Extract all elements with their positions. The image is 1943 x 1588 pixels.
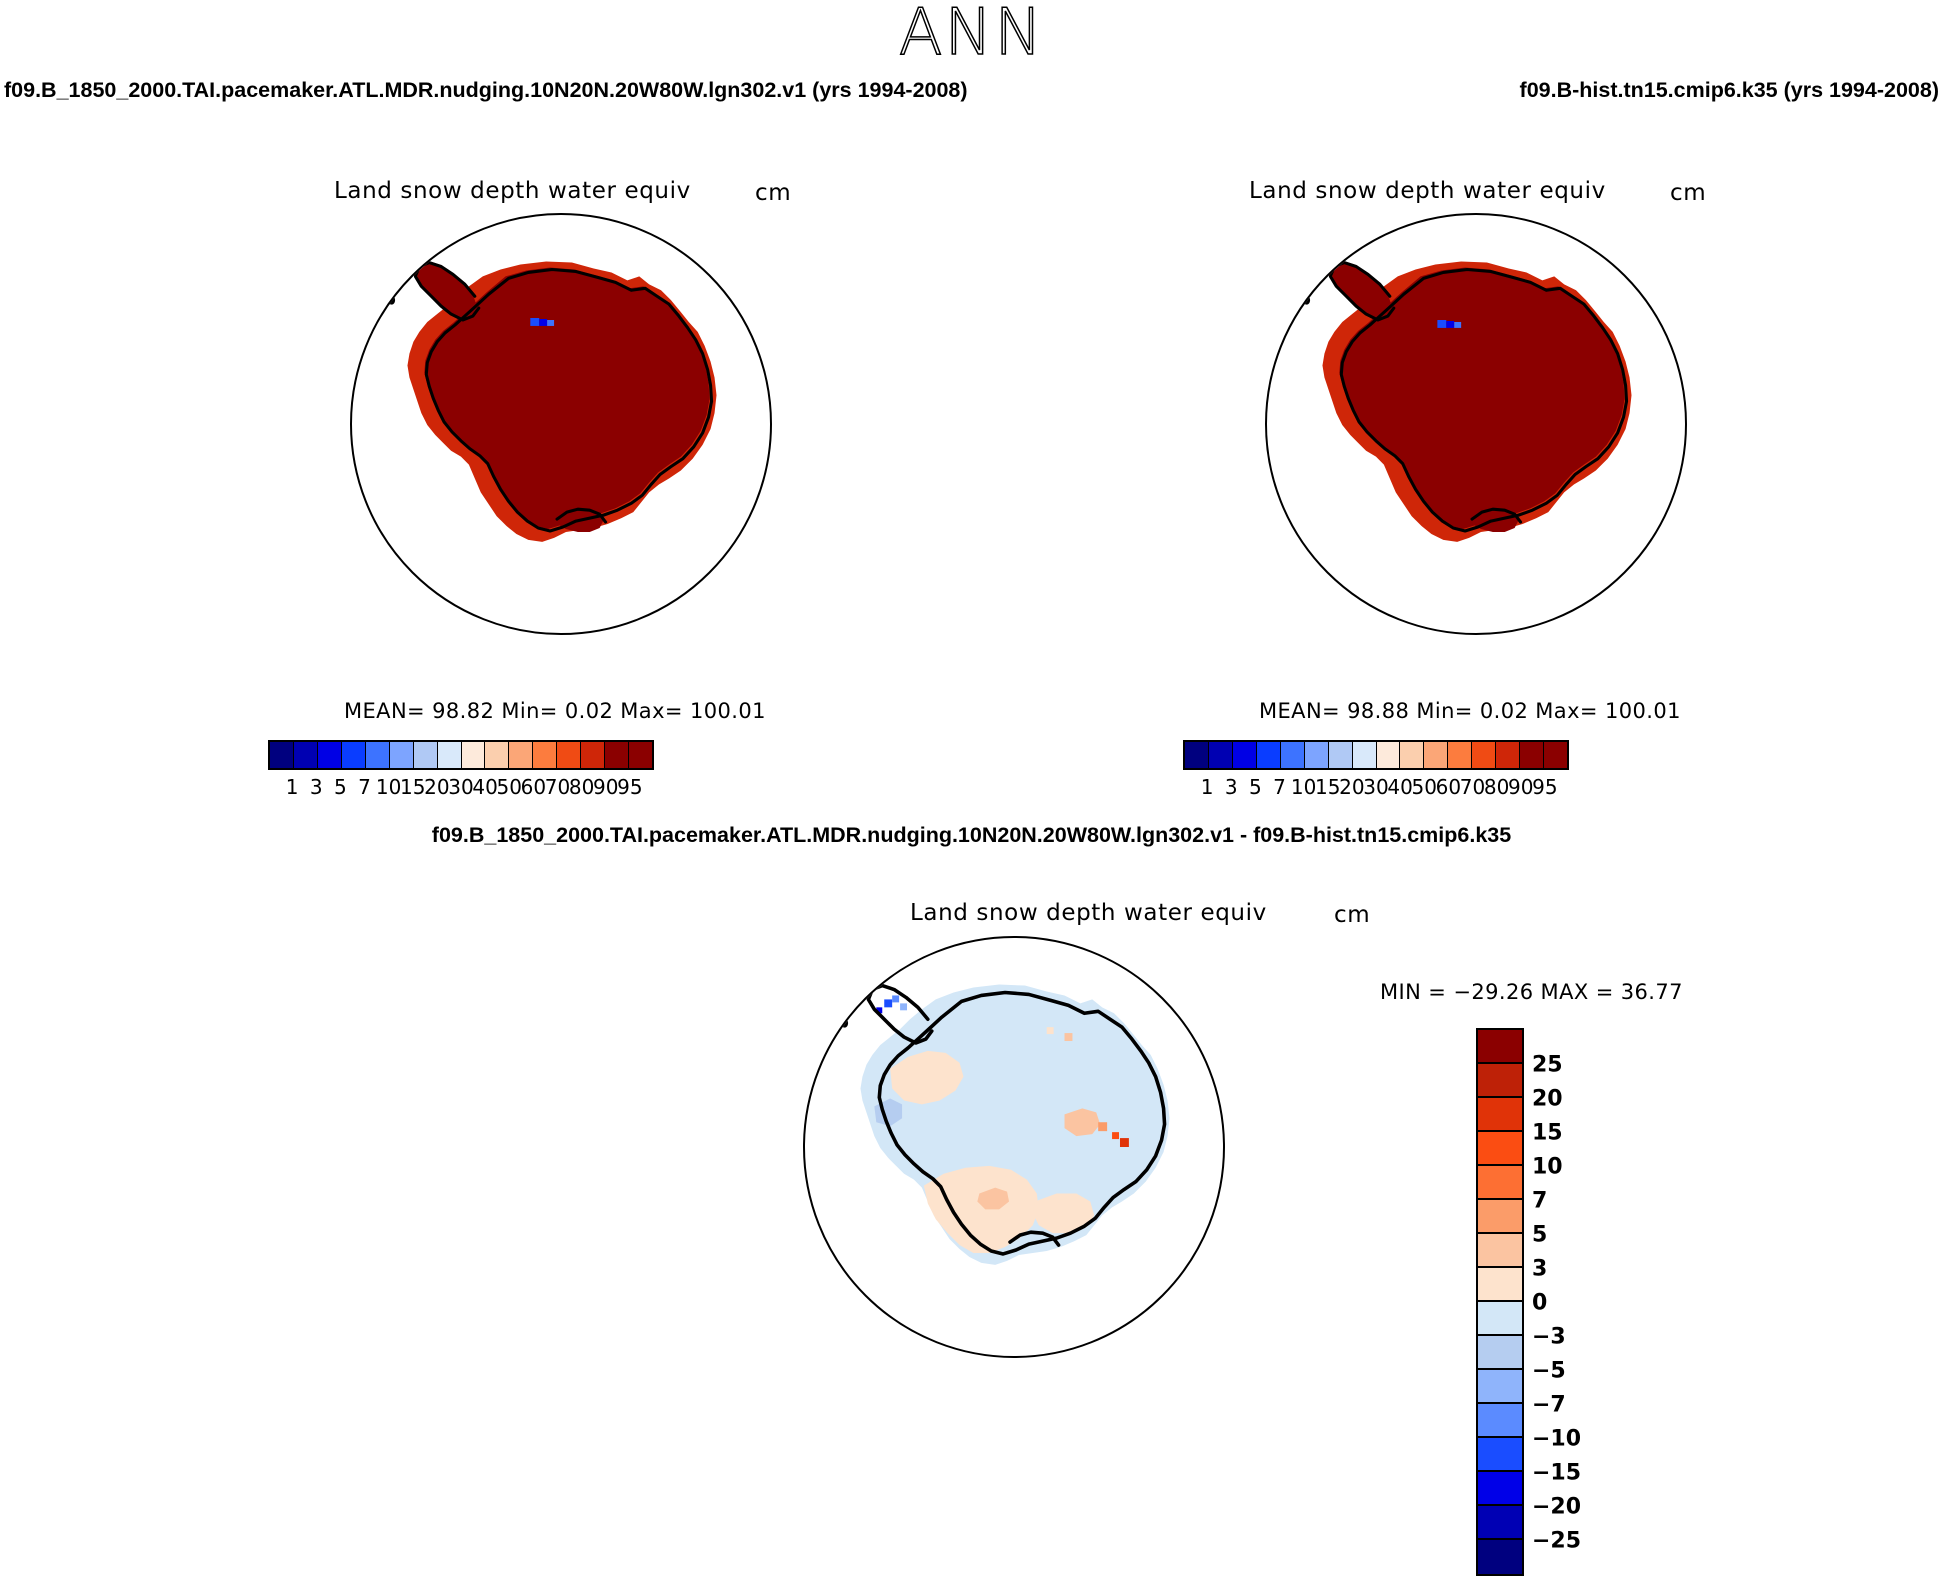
difference-colorbar-tick-label: 3 (1532, 1256, 1547, 1281)
colorbar-tick-label: 1 (286, 775, 299, 799)
colorbar-swatch (485, 742, 509, 768)
colorbar-tick-label: 70 (545, 775, 570, 799)
difference-colorbar-swatch (1478, 1336, 1522, 1370)
colorbar-swatch (581, 742, 605, 768)
difference-colorbar-swatch (1478, 1234, 1522, 1268)
left-colorbar-tick-labels: 13571015203040506070809095 (268, 775, 650, 803)
colorbar-swatch (1400, 742, 1424, 768)
colorbar-swatch (629, 742, 652, 768)
right-stats-text: MEAN= 98.88 Min= 0.02 Max= 100.01 (1259, 699, 1681, 723)
colorbar-swatch (1424, 742, 1448, 768)
difference-colorbar-swatch (1478, 1438, 1522, 1472)
colorbar-tick-label: 20 (424, 775, 449, 799)
colorbar-swatch (1353, 742, 1377, 768)
difference-colorbar-tick-label: −5 (1532, 1358, 1566, 1383)
colorbar-tick-label: 40 (1387, 775, 1412, 799)
colorbar-tick-label: 10 (1291, 775, 1316, 799)
colorbar-tick-label: 7 (358, 775, 371, 799)
right-colorbar[interactable] (1183, 740, 1569, 770)
diff-antarctica-shape (805, 938, 1223, 1356)
colorbar-swatch (294, 742, 318, 768)
difference-colorbar-tick-label: 25 (1532, 1052, 1563, 1077)
left-map-data-layer (352, 215, 770, 633)
right-units-label: cm (1670, 180, 1706, 206)
colorbar-swatch (1496, 742, 1520, 768)
colorbar-tick-label: 90 (1508, 775, 1533, 799)
colorbar-swatch (414, 742, 438, 768)
left-units-label: cm (755, 180, 791, 206)
left-map-blue-anomaly-marker (352, 215, 770, 633)
colorbar-swatch (1209, 742, 1233, 768)
colorbar-tick-label: 80 (569, 775, 594, 799)
difference-colorbar-swatch (1478, 1132, 1522, 1166)
colorbar-tick-label: 15 (400, 775, 425, 799)
colorbar-swatch (1305, 742, 1329, 768)
difference-colorbar[interactable] (1476, 1028, 1524, 1576)
right-map-blue-anomaly-marker (1267, 215, 1685, 633)
left-stats-text: MEAN= 98.82 Min= 0.02 Max= 100.01 (344, 699, 766, 723)
diff-units-label: cm (1334, 902, 1370, 928)
difference-colorbar-swatch (1478, 1268, 1522, 1302)
season-title: ANN (0, 0, 1943, 70)
colorbar-swatch (557, 742, 581, 768)
right-colorbar-tick-labels: 13571015203040506070809095 (1183, 775, 1565, 803)
difference-colorbar-tick-label: 20 (1532, 1086, 1563, 1111)
left-variable-label: Land snow depth water equiv (334, 178, 691, 204)
colorbar-tick-label: 50 (1412, 775, 1437, 799)
difference-colorbar-swatch (1478, 1540, 1522, 1574)
colorbar-swatch (1233, 742, 1257, 768)
colorbar-swatch (1257, 742, 1281, 768)
colorbar-swatch (342, 742, 366, 768)
colorbar-swatch (1185, 742, 1209, 768)
difference-colorbar-swatch (1478, 1472, 1522, 1506)
colorbar-tick-label: 95 (617, 775, 642, 799)
right-variable-label: Land snow depth water equiv (1249, 178, 1606, 204)
colorbar-swatch (533, 742, 557, 768)
colorbar-swatch (390, 742, 414, 768)
colorbar-swatch (1448, 742, 1472, 768)
colorbar-swatch (270, 742, 294, 768)
difference-colorbar-swatch (1478, 1302, 1522, 1336)
difference-colorbar-swatch (1478, 1064, 1522, 1098)
colorbar-swatch (318, 742, 342, 768)
difference-colorbar-tick-label: 10 (1532, 1154, 1563, 1179)
colorbar-swatch (462, 742, 486, 768)
colorbar-tick-label: 3 (310, 775, 323, 799)
left-panel-case-title: f09.B_1850_2000.TAI.pacemaker.ATL.MDR.nu… (4, 78, 968, 103)
colorbar-swatch (366, 742, 390, 768)
colorbar-swatch (1520, 742, 1544, 768)
colorbar-tick-label: 70 (1460, 775, 1485, 799)
difference-colorbar-swatch (1478, 1370, 1522, 1404)
colorbar-tick-label: 30 (448, 775, 473, 799)
colorbar-swatch (1544, 742, 1567, 768)
colorbar-swatch (1472, 742, 1496, 768)
difference-panel-case-title: f09.B_1850_2000.TAI.pacemaker.ATL.MDR.nu… (0, 823, 1943, 848)
colorbar-tick-label: 1 (1201, 775, 1214, 799)
colorbar-tick-label: 20 (1339, 775, 1364, 799)
difference-colorbar-tick-label: −3 (1532, 1324, 1566, 1349)
colorbar-tick-label: 40 (472, 775, 497, 799)
difference-colorbar-swatch (1478, 1506, 1522, 1540)
difference-colorbar-tick-label: 0 (1532, 1290, 1547, 1315)
difference-colorbar-swatch (1478, 1404, 1522, 1438)
difference-colorbar-swatch (1478, 1200, 1522, 1234)
colorbar-tick-label: 15 (1315, 775, 1340, 799)
difference-colorbar-tick-label: −7 (1532, 1392, 1566, 1417)
colorbar-tick-label: 10 (376, 775, 401, 799)
colorbar-swatch (1377, 742, 1401, 768)
right-panel-case-title: f09.B-hist.tn15.cmip6.k35 (yrs 1994-2008… (1520, 78, 1939, 103)
colorbar-tick-label: 30 (1363, 775, 1388, 799)
difference-antarctic-map[interactable] (803, 936, 1225, 1358)
colorbar-tick-label: 50 (497, 775, 522, 799)
colorbar-tick-label: 80 (1484, 775, 1509, 799)
difference-colorbar-tick-label: 7 (1532, 1188, 1547, 1213)
difference-colorbar-swatch (1478, 1098, 1522, 1132)
difference-colorbar-tick-label: 5 (1532, 1222, 1547, 1247)
difference-colorbar-tick-label: 15 (1532, 1120, 1563, 1145)
left-antarctic-map[interactable] (350, 213, 772, 635)
colorbar-swatch (605, 742, 629, 768)
difference-colorbar-swatch (1478, 1166, 1522, 1200)
diff-variable-label: Land snow depth water equiv (910, 900, 1267, 926)
difference-colorbar-tick-labels: 252015107530−3−5−7−10−15−20−25 (1532, 1028, 1622, 1588)
difference-colorbar-tick-label: −10 (1532, 1426, 1581, 1451)
diff-map-data-layer (805, 938, 1223, 1356)
diff-stats-text: MIN = −29.26 MAX = 36.77 (1380, 980, 1683, 1004)
difference-colorbar-swatch (1478, 1030, 1522, 1064)
difference-colorbar-tick-label: −25 (1532, 1528, 1581, 1553)
left-colorbar[interactable] (268, 740, 654, 770)
colorbar-tick-label: 3 (1225, 775, 1238, 799)
colorbar-tick-label: 90 (593, 775, 618, 799)
colorbar-tick-label: 5 (1249, 775, 1262, 799)
colorbar-swatch (509, 742, 533, 768)
colorbar-tick-label: 5 (334, 775, 347, 799)
colorbar-tick-label: 95 (1532, 775, 1557, 799)
colorbar-swatch (1281, 742, 1305, 768)
difference-colorbar-tick-label: −20 (1532, 1494, 1581, 1519)
right-antarctic-map[interactable] (1265, 213, 1687, 635)
colorbar-tick-label: 60 (1436, 775, 1461, 799)
colorbar-swatch (1329, 742, 1353, 768)
right-map-data-layer (1267, 215, 1685, 633)
colorbar-tick-label: 7 (1273, 775, 1286, 799)
colorbar-tick-label: 60 (521, 775, 546, 799)
colorbar-swatch (438, 742, 462, 768)
difference-colorbar-tick-label: −15 (1532, 1460, 1581, 1485)
